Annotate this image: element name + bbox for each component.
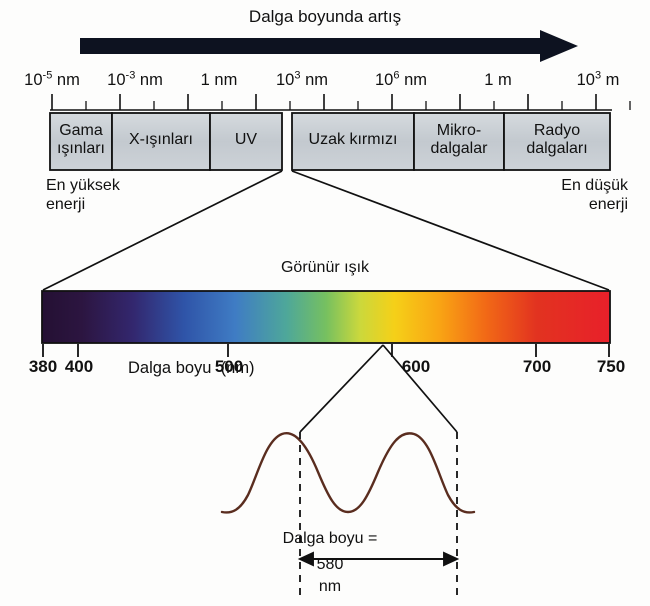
energy-low-label: En düşükenerji [561,177,628,215]
scale-label-1: 10-3 nm [95,72,175,90]
scale-label-5: 1 m [460,72,536,90]
visible-light-title: Görünür ışık [0,259,650,276]
nm-tick-600: 600 [391,358,441,376]
wavelength-unit: nm [319,578,341,595]
nm-tick-400: 400 [54,358,104,376]
figure-vector-layer [0,0,650,606]
page-title: Dalga boyunda artış [0,8,650,26]
band-label-uzak-kirmizi: Uzak kırmızı [292,131,414,149]
energy-high-label: En yüksekenerji [46,177,120,215]
band-label-radyo-dalgalari: Radyodalgaları [504,122,610,158]
wavelength-value: 580 [317,556,344,573]
scale-label-0: 10-5 nm [12,72,92,90]
wavelength-equation-label: Dalga boyu = [283,530,378,547]
visible-axis-ticks [43,344,609,357]
band-label-x-isinlari: X-ışınları [112,131,210,149]
right-arrow-icon [80,30,578,62]
band-label-mikrodalgalar: Mikro-dalgalar [414,122,504,158]
wave-curve [222,433,474,512]
scale-label-3: 103 nm [262,72,342,90]
wavelength-axis [50,94,630,110]
visible-axis-caption: Dalga boyu (nm) [128,360,255,378]
em-spectrum-figure: Dalga boyunda artış 10-5 nm 10-3 nm 1 nm… [0,0,650,606]
visible-spectrum-bar [42,291,610,343]
scale-label-2: 1 nm [181,72,257,90]
band-label-uv: UV [210,131,282,149]
scale-label-4: 106 nm [361,72,441,90]
band-label-gama-isinlari: Gamaışınları [50,122,112,158]
nm-tick-750: 750 [586,358,636,376]
nm-tick-700: 700 [512,358,562,376]
scale-label-6: 103 m [558,72,638,90]
